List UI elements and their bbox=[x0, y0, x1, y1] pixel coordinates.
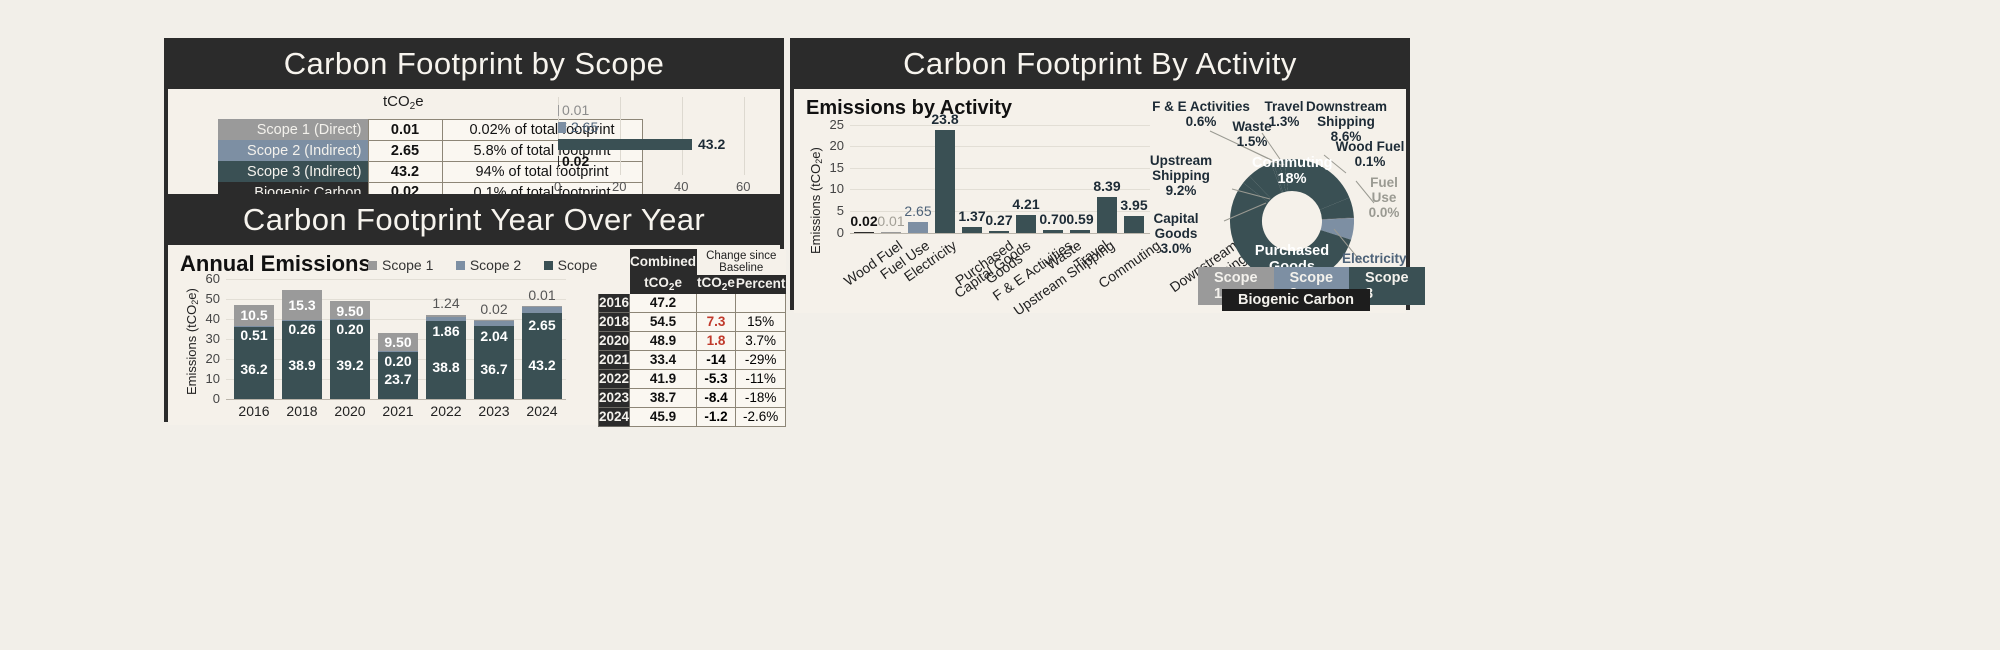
activity-value-upstream-shipping: 4.21 bbox=[1010, 196, 1042, 212]
unit-tail: e bbox=[415, 93, 423, 110]
segment-label-scope2: 0.26 bbox=[282, 321, 322, 337]
gridline bbox=[850, 168, 1150, 169]
ytick-20: 20 bbox=[192, 351, 220, 366]
segment-label-scope3: 39.2 bbox=[330, 357, 370, 373]
segment-label-scope1: 0.02 bbox=[474, 301, 514, 317]
segment-label-scope1: 15.3 bbox=[282, 297, 322, 313]
yoy-delta: 1.8 bbox=[697, 331, 736, 350]
ytick-40: 40 bbox=[192, 311, 220, 326]
hbar-scope3 bbox=[558, 139, 692, 150]
yoy-year: 2018 bbox=[599, 312, 630, 331]
xtick-20: 20 bbox=[612, 179, 626, 194]
activity-bar-downstream-shipping bbox=[1124, 216, 1144, 233]
ytick-0: 0 bbox=[820, 225, 844, 240]
ytick-50: 50 bbox=[192, 291, 220, 306]
segment-scope1 bbox=[426, 315, 466, 317]
donut-label-capital-goods: Capital Goods 3.0% bbox=[1146, 211, 1206, 256]
donut-inner-label-commuting: Commuting 18% bbox=[1252, 155, 1332, 188]
stacked-bar-2024: 0.01 2.65 43.2 bbox=[522, 307, 562, 399]
activity-value-commuting: 8.39 bbox=[1091, 178, 1123, 194]
yoy-percent: 15% bbox=[735, 312, 786, 331]
yoy-subcol-tco2e: tCO2e bbox=[697, 274, 736, 293]
xlabel-2018: 2018 bbox=[282, 403, 322, 419]
yoy-percent: 3.7% bbox=[735, 331, 786, 350]
table-row: 2023 38.7 -8.4 -18% bbox=[599, 388, 786, 407]
table-row: 2020 48.9 1.8 3.7% bbox=[599, 331, 786, 350]
activity-bar-purchased-goods bbox=[935, 130, 955, 233]
legend-swatch-scope1 bbox=[368, 261, 377, 270]
ytick-10: 10 bbox=[820, 181, 844, 196]
ytick-5: 5 bbox=[820, 203, 844, 218]
unit-text: tCO bbox=[383, 93, 410, 110]
ytick-20: 20 bbox=[820, 138, 844, 153]
xtick-40: 40 bbox=[674, 179, 688, 194]
donut-label-name: Upstream Shipping bbox=[1150, 153, 1212, 183]
yoy-combined: 38.7 bbox=[630, 388, 697, 407]
yoy-percent: -29% bbox=[735, 350, 786, 369]
gridline bbox=[682, 97, 683, 175]
donut-label-travel: Travel 1.3% bbox=[1260, 99, 1308, 129]
stacked-bar-2020: 9.50 0.20 39.2 bbox=[330, 301, 370, 399]
legend-label: Scope 1 bbox=[382, 257, 433, 273]
xlabel-2023: 2023 bbox=[474, 403, 514, 419]
segment-label-scope3: 36.7 bbox=[474, 361, 514, 377]
yoy-combined: 54.5 bbox=[630, 312, 697, 331]
yoy-delta: -14 bbox=[697, 350, 736, 369]
yoy-delta: 7.3 bbox=[697, 312, 736, 331]
donut-label-pct: 3.0% bbox=[1161, 241, 1192, 256]
gridline bbox=[226, 319, 566, 320]
segment-label-scope3: 36.2 bbox=[234, 361, 274, 377]
activity-value-purchased-goods: 23.8 bbox=[929, 111, 961, 127]
activity-bar-fuel-use bbox=[881, 232, 901, 233]
legend-item-scope1: Scope 1 bbox=[368, 257, 433, 273]
activity-bar-fe-activities bbox=[989, 231, 1009, 233]
scope-unit-header: tCO2e bbox=[383, 93, 424, 112]
yoy-combined: 41.9 bbox=[630, 369, 697, 388]
scope-row-label: Scope 2 (Indirect) bbox=[218, 140, 368, 161]
hbar-label-scope2: 2.65 bbox=[571, 119, 598, 135]
activity-bar-upstream-shipping bbox=[1016, 215, 1036, 233]
col-change-text: Change since Baseline bbox=[706, 250, 776, 274]
yoy-year: 2022 bbox=[599, 369, 630, 388]
donut-label-downstream-shipping: Downstream Shipping 8.6% bbox=[1306, 99, 1386, 144]
yoy-percent: -11% bbox=[735, 369, 786, 388]
donut-label-pct: 0.6% bbox=[1186, 114, 1217, 129]
segment-label-scope2: 0.51 bbox=[234, 327, 274, 343]
segment-label-scope1: 9.50 bbox=[378, 334, 418, 350]
scope-horizontal-bar-chart: 0.01 2.65 43.2 0.02 0 20 40 60 bbox=[558, 97, 773, 197]
hbar-label-biogenic: 0.02 bbox=[562, 153, 589, 169]
unit-text: tCO bbox=[697, 275, 722, 290]
xlabel-2021: 2021 bbox=[378, 403, 418, 419]
segment-label-scope3: 43.2 bbox=[522, 357, 562, 373]
donut-label-fuel-use: Fuel Use 0.0% bbox=[1360, 175, 1408, 220]
activity-bar-commuting bbox=[1097, 197, 1117, 233]
legend-item-scope2: Scope 2 bbox=[456, 257, 521, 273]
yoy-delta: -5.3 bbox=[697, 369, 736, 388]
scope-row-value: 2.65 bbox=[368, 140, 442, 161]
yoy-year: 2020 bbox=[599, 331, 630, 350]
segment-label-scope1: 9.50 bbox=[330, 303, 370, 319]
table-header-row: Combined Change since Baseline bbox=[599, 249, 786, 274]
yoy-year: 2021 bbox=[599, 350, 630, 369]
donut-label-pct: 1.3% bbox=[1269, 114, 1300, 129]
yoy-delta bbox=[697, 293, 736, 312]
gridline bbox=[226, 299, 566, 300]
dashboard-root: Carbon Footprint by Scope tCO2e Scope 1 … bbox=[0, 0, 2000, 650]
gridline bbox=[850, 146, 1150, 147]
yoy-subcol-percent: Percent bbox=[735, 274, 786, 293]
stacked-bar-2022: 1.24 1.86 38.8 bbox=[426, 315, 466, 399]
hbar-scope1 bbox=[558, 105, 559, 116]
gridline bbox=[744, 97, 745, 175]
segment-scope2 bbox=[522, 307, 562, 313]
yoy-col-change: Change since Baseline bbox=[697, 249, 786, 274]
segment-scope2 bbox=[378, 351, 418, 352]
segment-label-scope2: 2.65 bbox=[522, 317, 562, 333]
xlabel-2016: 2016 bbox=[234, 403, 274, 419]
scope-panel-body: tCO2e Scope 1 (Direct) 0.01 0.02% of tot… bbox=[168, 89, 780, 201]
yoy-legend: Scope 1 Scope 2 Scope 3 bbox=[368, 257, 627, 275]
ytick-60: 60 bbox=[192, 271, 220, 286]
hbar-label-scope3: 43.2 bbox=[698, 136, 725, 152]
scope-row-value: 0.01 bbox=[368, 119, 442, 140]
donut-label-name: F & E Activities bbox=[1152, 99, 1250, 114]
segment-scope2 bbox=[474, 321, 514, 326]
table-row: 2016 47.2 bbox=[599, 293, 786, 312]
ytick-0: 0 bbox=[192, 391, 220, 406]
donut-label-wood-fuel: Wood Fuel 0.1% bbox=[1334, 139, 1406, 169]
xlabel-2022: 2022 bbox=[426, 403, 466, 419]
activity-value-travel: 0.59 bbox=[1064, 211, 1096, 227]
table-row: 2021 33.4 -14 -29% bbox=[599, 350, 786, 369]
table-row: 2018 54.5 7.3 15% bbox=[599, 312, 786, 331]
panel-footprint-by-activity: Carbon Footprint By Activity Emissions b… bbox=[790, 38, 1410, 310]
unit-tail: e bbox=[727, 275, 735, 290]
ytick-10: 10 bbox=[192, 371, 220, 386]
activity-value-fe-activities: 0.27 bbox=[983, 212, 1015, 228]
activity-plot: 25 20 15 10 5 0 0.02 0.01 2.65 23.8 1.37… bbox=[850, 125, 1150, 233]
segment-label-scope2: 0.20 bbox=[330, 321, 370, 337]
unit-text: tCO bbox=[644, 275, 669, 290]
yoy-combined: 33.4 bbox=[630, 350, 697, 369]
yoy-year: 2016 bbox=[599, 293, 630, 312]
yoy-percent: -2.6% bbox=[735, 407, 786, 426]
yoy-subcol-blank bbox=[599, 274, 630, 293]
xtick-60: 60 bbox=[736, 179, 750, 194]
yoy-percent: -18% bbox=[735, 388, 786, 407]
donut-label-pct: 18% bbox=[1277, 171, 1306, 187]
activity-value-electricity: 2.65 bbox=[902, 203, 934, 219]
ytick-15: 15 bbox=[820, 160, 844, 175]
stacked-bar-2018: 15.3 0.26 38.9 bbox=[282, 290, 322, 399]
segment-scope1 bbox=[474, 320, 514, 321]
segment-label-scope3: 23.7 bbox=[378, 371, 418, 387]
legend-swatch-scope2 bbox=[456, 261, 465, 270]
activity-bar-capital-goods bbox=[962, 227, 982, 233]
axis-line bbox=[226, 399, 566, 400]
donut-label-name: Commuting bbox=[1252, 155, 1333, 171]
yoy-col-combined: Combined bbox=[630, 249, 697, 274]
activity-x-axis-labels: Wood Fuel Fuel Use Electricity Purchased… bbox=[850, 235, 1170, 305]
segment-scope1 bbox=[522, 306, 562, 307]
yoy-plot: 60 50 40 30 20 10 0 10.5 0.51 36.2 bbox=[226, 279, 566, 399]
donut-label-name: Electricity bbox=[1342, 251, 1407, 266]
segment-label-scope3: 38.9 bbox=[282, 357, 322, 373]
segment-label-scope1: 0.01 bbox=[522, 287, 562, 303]
segment-label-scope2: 0.20 bbox=[378, 353, 418, 369]
panel-title-by-activity: Carbon Footprint By Activity bbox=[794, 42, 1406, 89]
segment-label-scope1: 1.24 bbox=[426, 295, 466, 311]
stacked-bar-2023: 0.02 2.04 36.7 bbox=[474, 321, 514, 399]
donut-label-name: Capital Goods bbox=[1153, 211, 1198, 241]
panel-footprint-by-scope: Carbon Footprint by Scope tCO2e Scope 1 … bbox=[164, 38, 784, 198]
xlabel-2020: 2020 bbox=[330, 403, 370, 419]
panel-footprint-yoy: Carbon Footprint Year Over Year Annual E… bbox=[164, 194, 784, 422]
yoy-combined: 48.9 bbox=[630, 331, 697, 350]
yoy-combined: 47.2 bbox=[630, 293, 697, 312]
gridline bbox=[850, 125, 1150, 126]
col-combined-text: Combined bbox=[630, 254, 696, 269]
donut-label-pct: 0.0% bbox=[1369, 205, 1400, 220]
yoy-year: 2024 bbox=[599, 407, 630, 426]
table-subheader-row: tCO2e tCO2e Percent bbox=[599, 274, 786, 293]
donut-label-upstream-shipping: Upstream Shipping 9.2% bbox=[1144, 153, 1218, 198]
donut-label-name: Travel bbox=[1264, 99, 1303, 114]
yoy-panel-body: Annual Emissions Scope 1 Scope 2 Scope 3 bbox=[168, 245, 780, 425]
hbar-label-scope1: 0.01 bbox=[562, 102, 589, 118]
stacked-bar-2021: 9.50 0.20 23.7 bbox=[378, 333, 418, 399]
segment-scope2 bbox=[426, 317, 466, 321]
yoy-subcol-unit: tCO2e bbox=[630, 274, 697, 293]
donut-label-pct: 1.5% bbox=[1237, 134, 1268, 149]
panel-title-by-scope: Carbon Footprint by Scope bbox=[168, 42, 780, 89]
legend-biogenic-carbon[interactable]: Biogenic Carbon bbox=[1222, 289, 1370, 311]
activity-bar-wood-fuel bbox=[854, 232, 874, 233]
donut-label-name: Fuel Use bbox=[1370, 175, 1398, 205]
table-row: 2024 45.9 -1.2 -2.6% bbox=[599, 407, 786, 426]
gridline bbox=[620, 97, 621, 175]
activity-panel-body: Emissions by Activity Emissions (tCO2e) … bbox=[794, 89, 1406, 313]
xlabel-2024: 2024 bbox=[522, 403, 562, 419]
yoy-change-table: Combined Change since Baseline tCO2e tCO… bbox=[598, 249, 786, 427]
yoy-col-year bbox=[599, 249, 630, 274]
scope-row-label: Scope 3 (Indirect) bbox=[218, 161, 368, 182]
unit-tail: e bbox=[674, 275, 682, 290]
donut-label-pct: 9.2% bbox=[1166, 183, 1197, 198]
segment-label-scope2: 2.04 bbox=[474, 328, 514, 344]
segment-label-scope2: 1.86 bbox=[426, 323, 466, 339]
axis-line bbox=[850, 233, 1150, 234]
scope-row-label: Scope 1 (Direct) bbox=[218, 119, 368, 140]
ytick-25: 25 bbox=[820, 117, 844, 132]
yoy-delta: -8.4 bbox=[697, 388, 736, 407]
yoy-combined: 45.9 bbox=[630, 407, 697, 426]
hbar-biogenic bbox=[558, 156, 559, 167]
scope-legend-row-2: Biogenic Carbon bbox=[1222, 289, 1370, 311]
segment-scope2 bbox=[330, 319, 370, 320]
yoy-delta: -1.2 bbox=[697, 407, 736, 426]
ytick-30: 30 bbox=[192, 331, 220, 346]
segment-label-scope3: 38.8 bbox=[426, 359, 466, 375]
legend-swatch-scope3 bbox=[544, 261, 553, 270]
xtick-0: 0 bbox=[554, 179, 561, 194]
hbar-scope2 bbox=[558, 122, 566, 133]
table-row: 2022 41.9 -5.3 -11% bbox=[599, 369, 786, 388]
activity-bar-travel bbox=[1070, 230, 1090, 233]
donut-label-name: Wood Fuel bbox=[1336, 139, 1405, 154]
yoy-percent bbox=[735, 293, 786, 312]
activity-bar-waste bbox=[1043, 230, 1063, 233]
legend-label: Scope 2 bbox=[470, 257, 521, 273]
gridline bbox=[226, 279, 566, 280]
yoy-year: 2023 bbox=[599, 388, 630, 407]
stacked-bar-2016: 10.5 0.51 36.2 bbox=[234, 305, 274, 399]
scope-row-value: 43.2 bbox=[368, 161, 442, 182]
activity-bar-electricity bbox=[908, 222, 928, 233]
panel-title-yoy: Carbon Footprint Year Over Year bbox=[168, 198, 780, 245]
segment-label-scope1: 10.5 bbox=[234, 307, 274, 323]
donut-label-name: Downstream Shipping bbox=[1306, 99, 1387, 129]
donut-label-pct: 0.1% bbox=[1355, 154, 1386, 169]
